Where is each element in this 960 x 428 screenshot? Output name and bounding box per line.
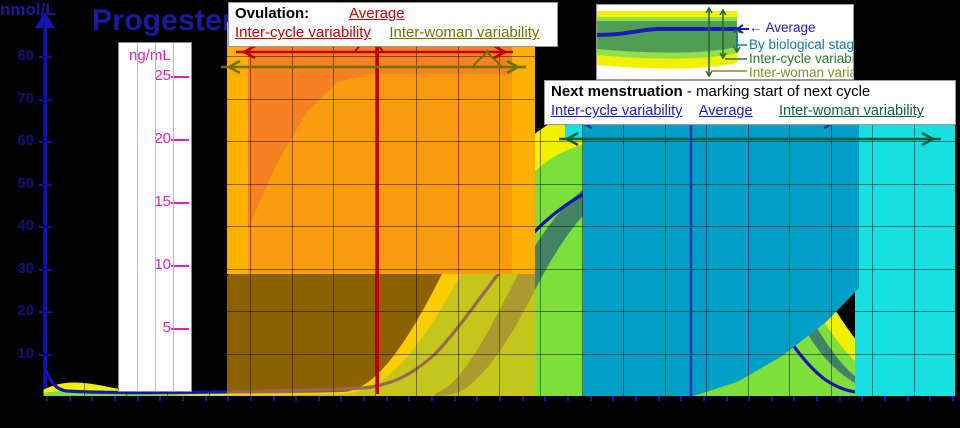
next-menstruation-heading: Next menstruation — [551, 83, 683, 100]
y-axis-tick-label: 40 — [2, 217, 34, 233]
ngml-grid-line — [137, 43, 138, 391]
ngml-tick-label: 5 — [125, 319, 171, 336]
ngml-grid-line — [173, 43, 174, 391]
ngml-unit-label: ng/mL — [129, 47, 171, 64]
y-axis-tick-value: 40 — [4, 217, 34, 234]
legend-item-average: ← Average — [749, 20, 816, 36]
next-inter-cycle-label: Inter-cycle variability — [551, 103, 682, 119]
ngml-scale-box: ng/mL 252015105 — [118, 42, 192, 392]
chart-root: Progesterone nmol/L 8070605040302010 — [0, 0, 960, 428]
y-axis-tick-label: 80 — [2, 47, 34, 63]
legend-card: ← Average By biological stage Inter-cycl… — [596, 4, 854, 80]
y-axis-tick-label: 20 — [2, 302, 34, 318]
y-axis-tick-label: 50 — [2, 175, 34, 191]
ngml-tick-label: 10 — [125, 256, 171, 273]
y-axis-tick-value: 60 — [4, 132, 34, 149]
ngml-grid-line — [155, 43, 156, 391]
ovulation-inter-cycle-label: Inter-cycle variability — [235, 24, 371, 41]
ngml-tick-label: 20 — [125, 130, 171, 147]
ovulation-inter-woman-label: Inter-woman variability — [389, 24, 539, 41]
ovulation-annotation-card: Ovulation: Average Inter-cycle variabili… — [228, 2, 558, 47]
y-axis-tick-value: 10 — [4, 345, 34, 362]
next-menstruation-subheading: - marking start of next cycle — [683, 83, 871, 100]
next-menstruation-card: Next menstruation - marking start of nex… — [544, 80, 956, 125]
y-axis-tick-label: 60 — [2, 132, 34, 148]
y-axis-tick-value: 50 — [4, 175, 34, 192]
y-axis-tick-value: 20 — [4, 302, 34, 319]
legend-item-inter-woman: Inter-woman variability — [749, 65, 854, 80]
ngml-tick-label: 25 — [125, 67, 171, 84]
y-axis-tick-label: 70 — [2, 90, 34, 106]
y-axis-tick-value: 30 — [4, 260, 34, 277]
y-axis-tick-value: 80 — [4, 47, 34, 64]
ngml-tick-label: 15 — [125, 193, 171, 210]
y-axis-tick-value: 70 — [4, 90, 34, 107]
ovulation-average-label: Average — [349, 5, 405, 22]
ovulation-heading: Ovulation: — [235, 5, 309, 22]
next-inter-woman-label: Inter-woman variability — [779, 103, 924, 119]
y-axis-tick-label: 10 — [2, 345, 34, 361]
next-average-label: Average — [699, 103, 753, 119]
y-axis-tick-label: 30 — [2, 260, 34, 276]
